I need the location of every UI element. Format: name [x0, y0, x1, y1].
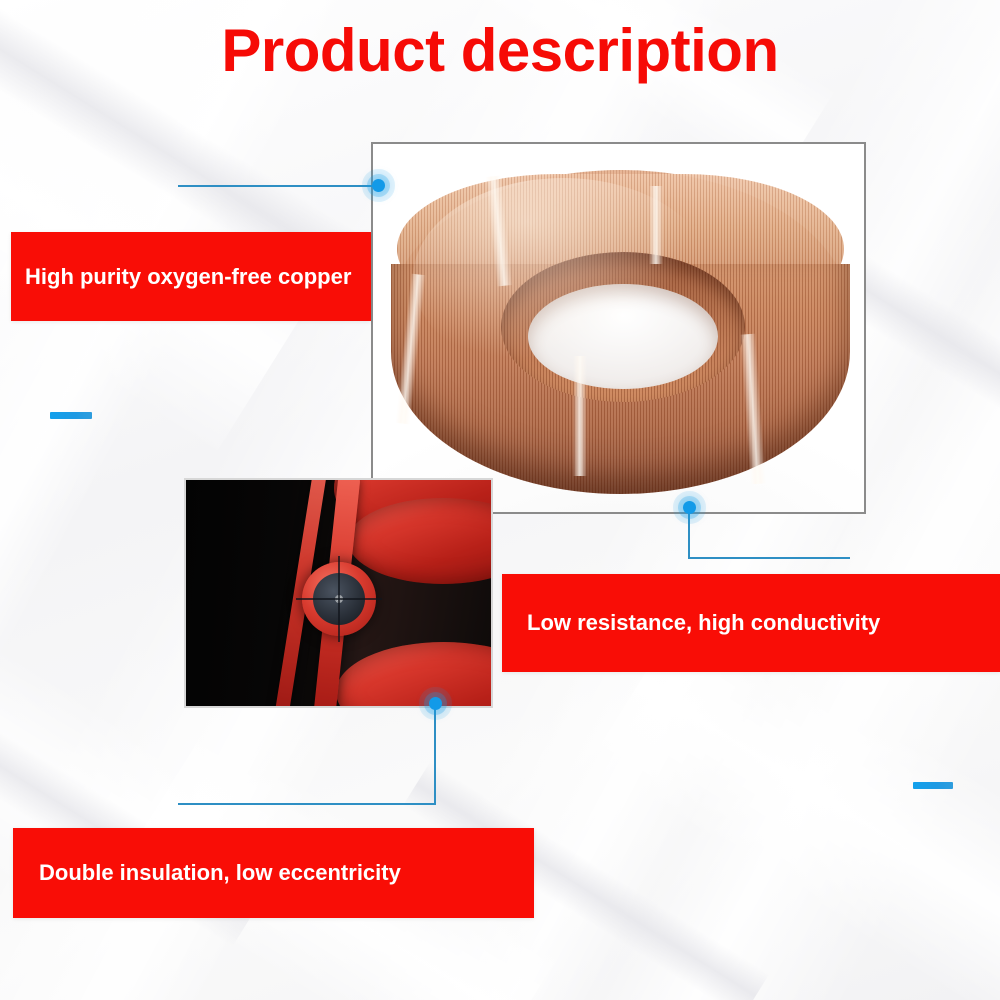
coil-strap-band — [573, 356, 587, 476]
callout-connector-copper-purity-line — [178, 185, 378, 187]
blue-dash-left — [50, 412, 92, 419]
cable-loop — [336, 642, 493, 708]
page-title: Product description — [0, 16, 1000, 85]
copper-coil-image — [373, 144, 864, 512]
blue-dash-right — [913, 782, 953, 789]
feature-banner-double-insulation[interactable]: Double insulation, low eccentricity — [13, 828, 534, 918]
callout-connector-conductivity-dot[interactable] — [683, 501, 696, 514]
feature-banner-low-resistance[interactable]: Low resistance, high conductivity — [502, 574, 1000, 672]
callout-connector-insulation-line-v — [434, 703, 436, 805]
cable-crosshair-icon — [338, 556, 340, 642]
feature-banner-label: Double insulation, low eccentricity — [39, 860, 401, 886]
callout-connector-conductivity-line-h — [688, 557, 850, 559]
feature-banner-label: Low resistance, high conductivity — [527, 610, 880, 636]
cable-image — [186, 480, 491, 706]
feature-banner-label: High purity oxygen-free copper — [25, 264, 351, 290]
feature-banner-high-purity-copper[interactable]: High purity oxygen-free copper — [11, 232, 371, 321]
callout-connector-copper-purity-dot[interactable] — [372, 179, 385, 192]
coil-strap-band — [649, 186, 663, 264]
infographic-canvas: Product description — [0, 0, 1000, 1000]
red-cable-cross-section-photo[interactable] — [184, 478, 493, 708]
coil-center-hole — [528, 284, 718, 389]
copper-coil-photo[interactable] — [371, 142, 866, 514]
callout-connector-insulation-line-h — [178, 803, 436, 805]
callout-connector-conductivity-line-v — [688, 507, 690, 559]
callout-connector-insulation-dot[interactable] — [429, 697, 442, 710]
cable-cut-end — [302, 562, 376, 636]
